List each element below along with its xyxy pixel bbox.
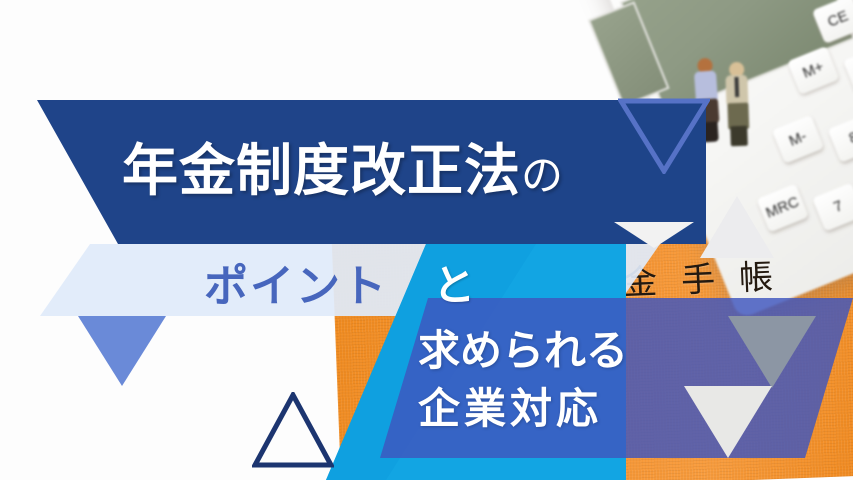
calculator-key: M+	[787, 46, 839, 95]
point-heading: ポイント	[204, 250, 388, 314]
headline: 年金制度改正法の	[122, 126, 564, 207]
figurine-legs	[730, 126, 748, 147]
lower-copy: 求められる 企業対応	[418, 322, 628, 438]
outlined-up-triangle-icon	[252, 392, 334, 468]
figurine-elderly-man	[719, 61, 756, 150]
outlined-down-triangle-icon	[618, 98, 710, 174]
pension-reform-banner: ON/C CE % M+ 9 6 M- 8 5 MRC 7 4 年金 年	[0, 0, 853, 480]
calculator-key: 7	[812, 182, 853, 231]
lower-copy-line-2: 企業対応	[418, 380, 628, 438]
lower-copy-line-1: 求められる	[418, 322, 628, 380]
calculator-key: 9	[843, 45, 853, 94]
headline-main: 年金制度改正法	[122, 139, 521, 204]
calculator-key: 8	[827, 114, 853, 163]
conjunction-text: と	[433, 252, 475, 313]
headline-suffix: の	[521, 151, 564, 200]
calculator-key: CE	[812, 0, 853, 44]
figurine-necktie	[734, 77, 739, 97]
